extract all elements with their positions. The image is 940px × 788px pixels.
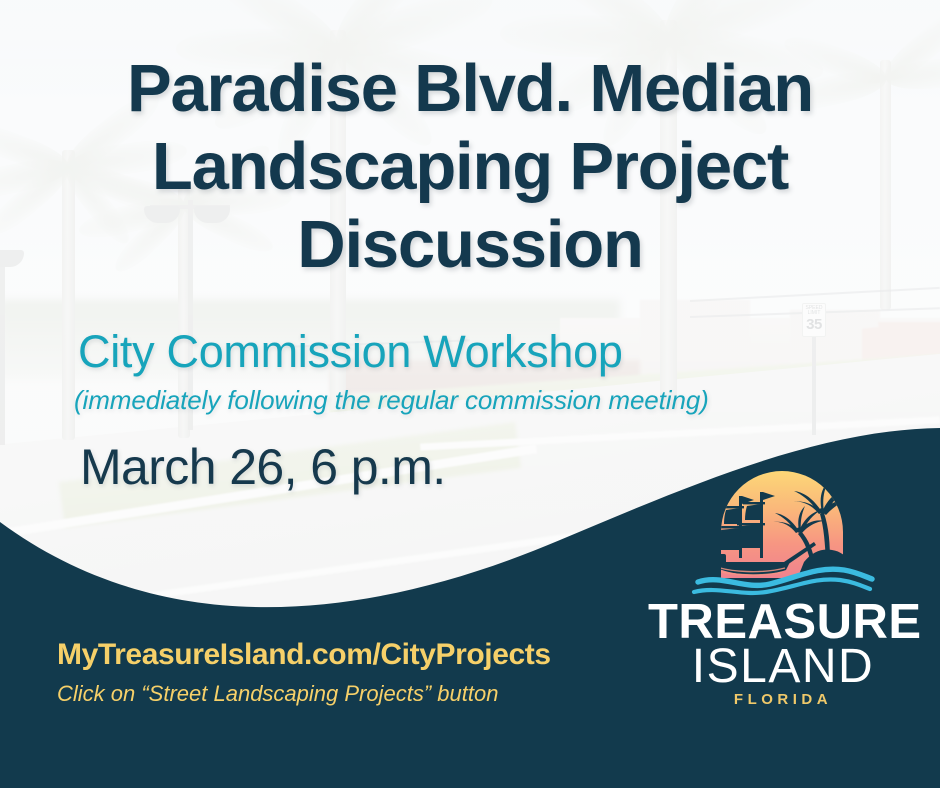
headline-line-1: Paradise Blvd. Median bbox=[0, 50, 940, 128]
logo-line-island: ISLAND bbox=[648, 643, 918, 691]
event-flyer: SPEED LIMIT 35 Paradise Blvd. Median Lan… bbox=[0, 0, 940, 788]
logo-line-florida: FLORIDA bbox=[648, 692, 918, 707]
click-instruction: Click on “Street Landscaping Projects” b… bbox=[57, 681, 498, 707]
headline-line-2: Landscaping Project bbox=[0, 128, 940, 206]
event-datetime: March 26, 6 p.m. bbox=[80, 438, 446, 496]
city-logo: TREASURE ISLAND FLORIDA bbox=[648, 470, 918, 720]
project-url[interactable]: MyTreasureIsland.com/CityProjects bbox=[57, 638, 551, 672]
event-subtitle-note: (immediately following the regular commi… bbox=[74, 385, 894, 416]
headline-line-3: Discussion bbox=[0, 206, 940, 284]
event-subtitle: City Commission Workshop bbox=[78, 326, 878, 378]
page-title: Paradise Blvd. Median Landscaping Projec… bbox=[0, 50, 940, 284]
treasure-island-sunset-ship-icon bbox=[686, 470, 878, 596]
